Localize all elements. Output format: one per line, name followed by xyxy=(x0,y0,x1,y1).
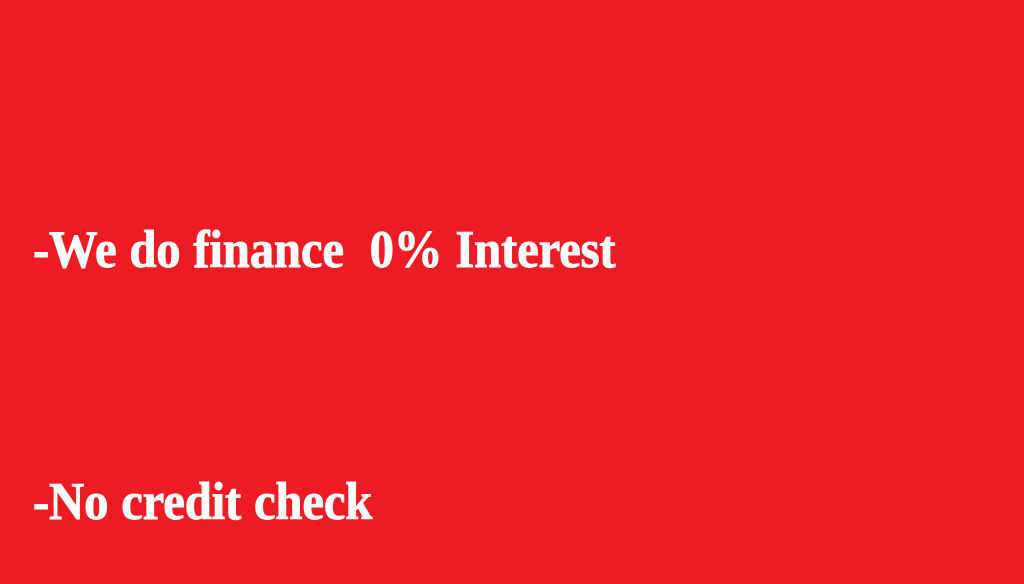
promo-text-block: -We do finance 0% Interest -No credit ch… xyxy=(33,30,1018,584)
financing-offer-banner: -We do finance 0% Interest -No credit ch… xyxy=(0,0,1024,584)
promo-line-no-credit-check: -No credit check xyxy=(33,471,939,534)
promo-line-finance-interest: -We do finance 0% Interest xyxy=(33,219,939,282)
